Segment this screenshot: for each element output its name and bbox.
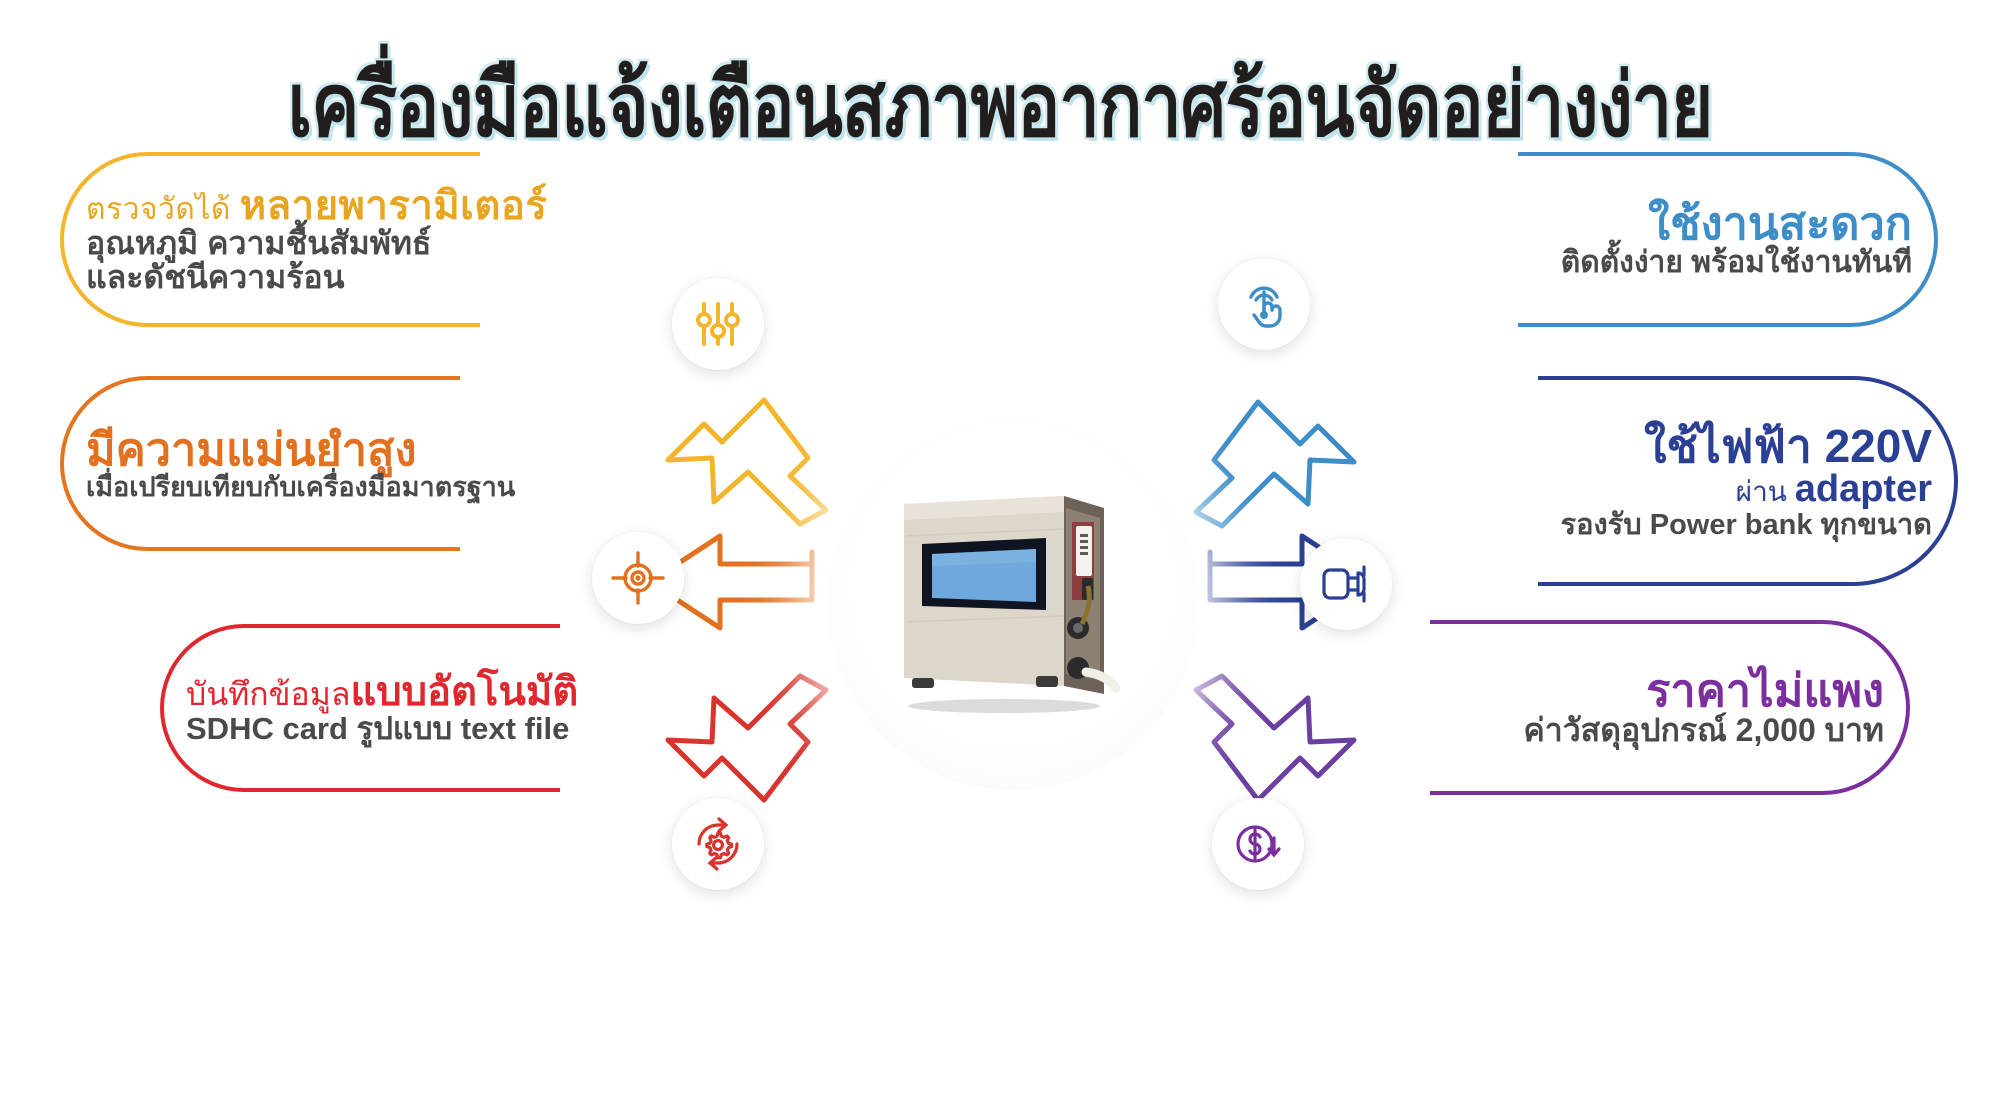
- card-power-line1: ใช้ไฟฟ้า 220V: [1644, 422, 1932, 470]
- card-data-logging-line1-strong: แบบอัตโนมัติ: [350, 670, 578, 714]
- card-power-supply: ใช้ไฟฟ้า 220V ผ่าน adapter รองรับ Power …: [1538, 376, 1958, 586]
- card-data-logging-line2: SDHC card รูปแบบ text file: [186, 713, 569, 746]
- gear-refresh-icon: [672, 798, 764, 890]
- card-accuracy-line1: มีความแม่นยำสูง: [86, 426, 416, 473]
- card-parameters-line2: อุณหภูมิ ความชื้นสัมพัทธ์: [86, 227, 431, 261]
- card-power-line2-strong: adapter: [1795, 468, 1932, 510]
- card-parameters: ตรวจวัดได้ หลายพารามิเตอร์ อุณหภูมิ ความ…: [60, 152, 480, 327]
- card-price-line1: ราคาไม่แพง: [1646, 667, 1884, 714]
- card-accuracy: มีความแม่นยำสูง เมื่อเปรียบเทียบกับเครื่…: [60, 376, 460, 551]
- target-crosshair-icon: [592, 532, 684, 624]
- money-arrow-icon: [1212, 798, 1304, 890]
- heat-warning-device-image: [886, 482, 1144, 714]
- card-price: ราคาไม่แพง ค่าวัสดุอุปกรณ์ 2,000 บาท: [1430, 620, 1910, 795]
- card-parameters-line3: และดัชนีความร้อน: [86, 261, 345, 295]
- card-data-logging: บันทึกข้อมูลแบบอัตโนมัติ SDHC card รูปแบ…: [160, 624, 560, 792]
- infographic-canvas: เครื่องมือแจ้งเตือนสภาพอากาศร้อนจัดอย่าง…: [0, 0, 2000, 1111]
- card-power-line2-lead: ผ่าน: [1736, 476, 1795, 507]
- card-data-logging-line1: บันทึกข้อมูลแบบอัตโนมัติ: [186, 671, 578, 713]
- card-price-line2: ค่าวัสดุอุปกรณ์ 2,000 บาท: [1523, 714, 1884, 748]
- touch-tap-icon: [1218, 258, 1310, 350]
- card-data-logging-line1-lead: บันทึกข้อมูล: [186, 676, 350, 712]
- card-easy-use-line2: ติดตั้งง่าย พร้อมใช้งานทันที: [1561, 247, 1912, 279]
- arrow-up-right: [1196, 402, 1354, 526]
- power-adapter-icon: [1300, 538, 1392, 630]
- card-power-line2: ผ่าน adapter: [1736, 470, 1932, 510]
- card-parameters-line1-lead: ตรวจวัดได้: [86, 193, 240, 226]
- sliders-icon: [672, 278, 764, 370]
- card-easy-use-line1: ใช้งานสะดวก: [1648, 200, 1912, 247]
- card-parameters-line1: ตรวจวัดได้ หลายพารามิเตอร์: [86, 185, 547, 227]
- arrow-down-right: [1196, 676, 1354, 800]
- card-power-line3: รองรับ Power bank ทุกขนาด: [1561, 510, 1932, 540]
- card-accuracy-line2: เมื่อเปรียบเทียบกับเครื่องมือมาตรฐาน: [86, 473, 515, 501]
- card-parameters-line1-strong: หลายพารามิเตอร์: [240, 184, 548, 228]
- arrow-up-left: [668, 400, 826, 524]
- arrow-down-left: [668, 676, 826, 800]
- card-easy-use: ใช้งานสะดวก ติดตั้งง่าย พร้อมใช้งานทันที: [1518, 152, 1938, 327]
